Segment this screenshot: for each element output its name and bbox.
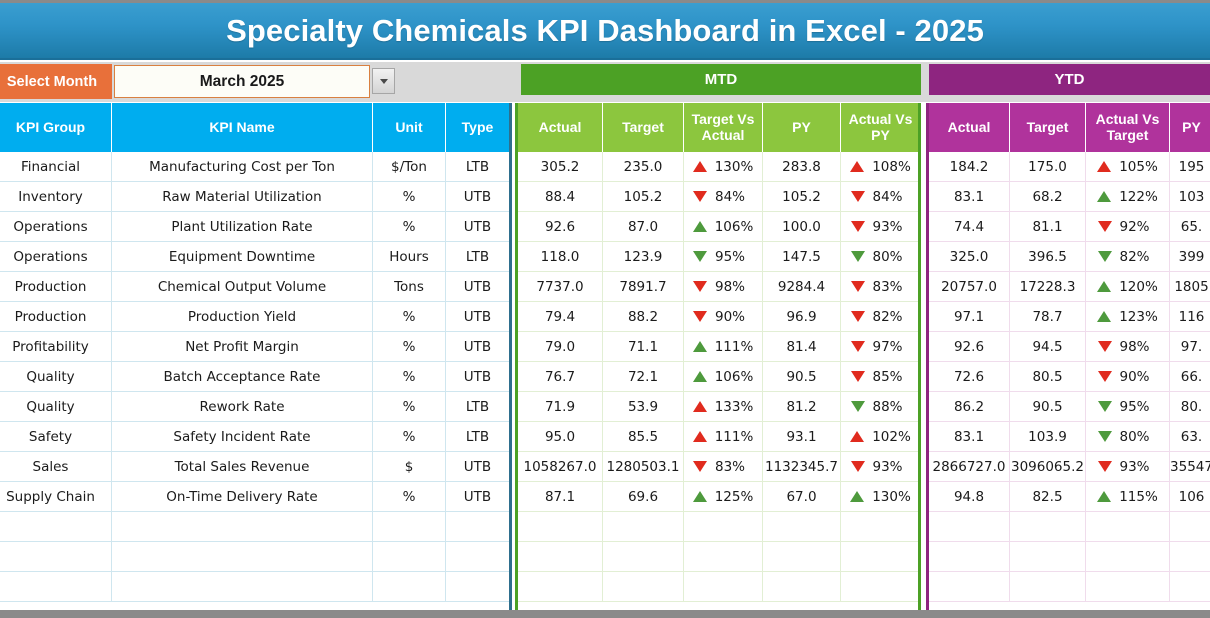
- cell-type: LTB: [446, 242, 510, 272]
- cell-mtd_py: 81.4: [763, 332, 841, 362]
- column-header-ytd-actual[interactable]: Actual: [929, 103, 1010, 152]
- cell-unit: %: [373, 212, 446, 242]
- cell-group: Quality: [0, 362, 112, 392]
- cell-mtd_tva: 111%: [684, 332, 763, 362]
- cell-name: Total Sales Revenue: [112, 452, 373, 482]
- comparison-percent: 120%: [1119, 279, 1158, 295]
- column-header-kpi-name[interactable]: KPI Name: [112, 103, 373, 152]
- column-header-mtd-target-vs-actual[interactable]: Target VsActual: [684, 103, 763, 152]
- cell-unit: Hours: [373, 242, 446, 272]
- cell-mtd_py: [763, 572, 841, 602]
- cell-mtd_tva: [684, 512, 763, 542]
- cell-type: UTB: [446, 272, 510, 302]
- cell-mtd_target: [603, 542, 684, 572]
- cell-mtd_actual: 87.1: [518, 482, 603, 512]
- cell-type: UTB: [446, 212, 510, 242]
- trend-arrow-down-icon: [1098, 221, 1112, 232]
- cell-type: UTB: [446, 452, 510, 482]
- cell-ytd_target: [1010, 542, 1086, 572]
- comparison-percent: 80%: [873, 249, 911, 265]
- cell-ytd_actual: 184.2: [929, 152, 1010, 182]
- cell-ytd_actual: [929, 572, 1010, 602]
- cell-ytd_actual: 83.1: [929, 182, 1010, 212]
- cell-ytd_py: 97.: [1170, 332, 1210, 362]
- trend-arrow-up-icon: [693, 221, 707, 232]
- cell-ytd_avt: 98%: [1086, 332, 1170, 362]
- cell-type: UTB: [446, 332, 510, 362]
- cell-unit: %: [373, 392, 446, 422]
- cell-group: Production: [0, 272, 112, 302]
- cell-mtd_py: 147.5: [763, 242, 841, 272]
- comparison-percent: 85%: [873, 369, 911, 385]
- cell-mtd_actual: 76.7: [518, 362, 603, 392]
- cell-ytd_target: 78.7: [1010, 302, 1086, 332]
- cell-mtd_py: 81.2: [763, 392, 841, 422]
- trend-arrow-up-icon: [693, 401, 707, 412]
- column-header-mtd-actual[interactable]: Actual: [518, 103, 603, 152]
- chevron-down-icon: [380, 79, 388, 84]
- group-banner-mtd: MTD: [521, 64, 921, 95]
- cell-mtd_avp: [841, 542, 921, 572]
- cell-mtd_actual: 88.4: [518, 182, 603, 212]
- trend-arrow-up-icon: [1097, 281, 1111, 292]
- cell-ytd_avt: [1086, 572, 1170, 602]
- cell-ytd_avt: [1086, 512, 1170, 542]
- cell-name: [112, 572, 373, 602]
- comparison-percent: 92%: [1120, 219, 1158, 235]
- cell-name: [112, 542, 373, 572]
- column-header-ytd-target[interactable]: Target: [1010, 103, 1086, 152]
- cell-ytd_py: 195: [1170, 152, 1210, 182]
- cell-name: Chemical Output Volume: [112, 272, 373, 302]
- comparison-percent: 83%: [873, 279, 911, 295]
- cell-ytd_py: 80.: [1170, 392, 1210, 422]
- cell-mtd_tva: 106%: [684, 212, 763, 242]
- cell-ytd_avt: 93%: [1086, 452, 1170, 482]
- cell-group: Profitability: [0, 332, 112, 362]
- cell-unit: $/Ton: [373, 152, 446, 182]
- cell-ytd_target: 3096065.2: [1010, 452, 1086, 482]
- table-row-empty[interactable]: [0, 542, 1210, 572]
- comparison-percent: 97%: [873, 339, 911, 355]
- month-dropdown-button[interactable]: [372, 68, 395, 94]
- cell-ytd_avt: 122%: [1086, 182, 1170, 212]
- trend-arrow-up-icon: [1097, 311, 1111, 322]
- cell-mtd_target: 87.0: [603, 212, 684, 242]
- trend-arrow-down-icon: [693, 281, 707, 292]
- cell-ytd_avt: 115%: [1086, 482, 1170, 512]
- comparison-percent: 106%: [715, 219, 754, 235]
- trend-arrow-up-icon: [1097, 491, 1111, 502]
- trend-arrow-down-icon: [851, 281, 865, 292]
- cell-mtd_tva: 98%: [684, 272, 763, 302]
- cell-ytd_py: 65.: [1170, 212, 1210, 242]
- cell-mtd_actual: 79.4: [518, 302, 603, 332]
- cell-mtd_actual: 1058267.0: [518, 452, 603, 482]
- column-header-kpi-group[interactable]: KPI Group: [0, 103, 112, 152]
- cell-mtd_avp: 82%: [841, 302, 921, 332]
- cell-mtd_actual: 95.0: [518, 422, 603, 452]
- cell-ytd_target: 175.0: [1010, 152, 1086, 182]
- cell-mtd_tva: 106%: [684, 362, 763, 392]
- cell-mtd_target: [603, 572, 684, 602]
- cell-type: LTB: [446, 152, 510, 182]
- table-row[interactable]: SalesTotal Sales Revenue$UTB1058267.0128…: [0, 452, 1210, 482]
- cell-mtd_avp: 130%: [841, 482, 921, 512]
- cell-group: Operations: [0, 242, 112, 272]
- cell-group: Financial: [0, 152, 112, 182]
- dashboard-banner: Specialty Chemicals KPI Dashboard in Exc…: [0, 3, 1210, 60]
- cell-ytd_avt: 80%: [1086, 422, 1170, 452]
- cell-mtd_target: 105.2: [603, 182, 684, 212]
- cell-mtd_target: [603, 512, 684, 542]
- bottom-edge-strip: [0, 610, 1210, 618]
- cell-ytd_target: 82.5: [1010, 482, 1086, 512]
- cell-mtd_avp: [841, 572, 921, 602]
- cell-name: Safety Incident Rate: [112, 422, 373, 452]
- cell-ytd_py: 63.: [1170, 422, 1210, 452]
- cell-type: LTB: [446, 422, 510, 452]
- group-banner-ytd: YTD: [929, 64, 1210, 95]
- cell-mtd_tva: [684, 542, 763, 572]
- cell-ytd_py: 103: [1170, 182, 1210, 212]
- cell-ytd_actual: 74.4: [929, 212, 1010, 242]
- column-header-ytd-py[interactable]: PY: [1170, 103, 1210, 152]
- table-row[interactable]: QualityRework Rate%LTB71.953.9133%81.288…: [0, 392, 1210, 422]
- comparison-percent: 123%: [1119, 309, 1158, 325]
- cell-mtd_tva: 130%: [684, 152, 763, 182]
- cell-mtd_target: 53.9: [603, 392, 684, 422]
- cell-ytd_target: 81.1: [1010, 212, 1086, 242]
- cell-type: [446, 512, 510, 542]
- cell-ytd_actual: 83.1: [929, 422, 1010, 452]
- trend-arrow-down-icon: [693, 461, 707, 472]
- cell-unit: %: [373, 332, 446, 362]
- comparison-percent: 133%: [715, 399, 754, 415]
- cell-ytd_py: 66.: [1170, 362, 1210, 392]
- cell-mtd_actual: 71.9: [518, 392, 603, 422]
- cell-unit: [373, 512, 446, 542]
- cell-name: Raw Material Utilization: [112, 182, 373, 212]
- cell-mtd_target: 235.0: [603, 152, 684, 182]
- cell-ytd_target: 90.5: [1010, 392, 1086, 422]
- cell-ytd_target: 94.5: [1010, 332, 1086, 362]
- trend-arrow-up-icon: [850, 491, 864, 502]
- cell-mtd_avp: 102%: [841, 422, 921, 452]
- cell-mtd_avp: 80%: [841, 242, 921, 272]
- cell-mtd_tva: 90%: [684, 302, 763, 332]
- cell-name: Plant Utilization Rate: [112, 212, 373, 242]
- cell-name: Rework Rate: [112, 392, 373, 422]
- comparison-percent: 130%: [872, 489, 911, 505]
- cell-group: [0, 512, 112, 542]
- cell-name: Net Profit Margin: [112, 332, 373, 362]
- cell-mtd_avp: 85%: [841, 362, 921, 392]
- comparison-percent: 82%: [1120, 249, 1158, 265]
- cell-type: LTB: [446, 392, 510, 422]
- comparison-percent: 122%: [1119, 189, 1158, 205]
- select-month-label: Select Month: [0, 64, 112, 99]
- trend-arrow-down-icon: [851, 221, 865, 232]
- cell-mtd_avp: [841, 512, 921, 542]
- comparison-percent: 102%: [872, 429, 911, 445]
- cell-ytd_avt: 82%: [1086, 242, 1170, 272]
- cell-ytd_actual: [929, 512, 1010, 542]
- cell-ytd_actual: 94.8: [929, 482, 1010, 512]
- cell-mtd_py: 93.1: [763, 422, 841, 452]
- trend-arrow-down-icon: [1098, 371, 1112, 382]
- trend-arrow-down-icon: [851, 461, 865, 472]
- cell-ytd_actual: 97.1: [929, 302, 1010, 332]
- cell-mtd_tva: 133%: [684, 392, 763, 422]
- trend-arrow-down-icon: [1098, 341, 1112, 352]
- cell-unit: %: [373, 182, 446, 212]
- comparison-percent: 108%: [872, 159, 911, 175]
- cell-ytd_py: 1805: [1170, 272, 1210, 302]
- trend-arrow-up-icon: [693, 491, 707, 502]
- cell-mtd_actual: 79.0: [518, 332, 603, 362]
- comparison-percent: 115%: [1119, 489, 1158, 505]
- table-row-empty[interactable]: [0, 572, 1210, 602]
- cell-mtd_tva: 95%: [684, 242, 763, 272]
- cell-mtd_tva: 111%: [684, 422, 763, 452]
- trend-arrow-down-icon: [1098, 461, 1112, 472]
- cell-mtd_py: 105.2: [763, 182, 841, 212]
- table-body: FinancialManufacturing Cost per Ton$/Ton…: [0, 152, 1210, 610]
- cell-type: UTB: [446, 482, 510, 512]
- trend-arrow-up-icon: [693, 161, 707, 172]
- comparison-percent: 125%: [715, 489, 754, 505]
- cell-group: Operations: [0, 212, 112, 242]
- cell-group: Sales: [0, 452, 112, 482]
- cell-mtd_actual: 118.0: [518, 242, 603, 272]
- trend-arrow-up-icon: [850, 431, 864, 442]
- trend-arrow-up-icon: [693, 431, 707, 442]
- cell-unit: [373, 572, 446, 602]
- comparison-percent: 105%: [1119, 159, 1158, 175]
- cell-ytd_py: [1170, 572, 1210, 602]
- trend-arrow-down-icon: [1098, 401, 1112, 412]
- trend-arrow-up-icon: [850, 161, 864, 172]
- comparison-percent: 83%: [715, 459, 753, 475]
- comparison-percent: 111%: [715, 429, 754, 445]
- table-row[interactable]: ProfitabilityNet Profit Margin%UTB79.071…: [0, 332, 1210, 362]
- cell-mtd_py: 67.0: [763, 482, 841, 512]
- cell-type: UTB: [446, 182, 510, 212]
- cell-ytd_py: 35547: [1170, 452, 1210, 482]
- column-header-unit[interactable]: Unit: [373, 103, 446, 152]
- cell-ytd_py: 116: [1170, 302, 1210, 332]
- month-select-input[interactable]: March 2025: [114, 65, 370, 98]
- comparison-percent: 130%: [715, 159, 754, 175]
- comparison-percent: 80%: [1120, 429, 1158, 445]
- comparison-percent: 93%: [1120, 459, 1158, 475]
- table-row-empty[interactable]: [0, 512, 1210, 542]
- cell-ytd_actual: [929, 542, 1010, 572]
- column-header-mtd-target[interactable]: Target: [603, 103, 684, 152]
- cell-ytd_avt: 120%: [1086, 272, 1170, 302]
- column-header-ytd-actual-vs-target[interactable]: Actual VsTarget: [1086, 103, 1170, 152]
- cell-ytd_target: 103.9: [1010, 422, 1086, 452]
- cell-ytd_py: 106: [1170, 482, 1210, 512]
- cell-mtd_avp: 83%: [841, 272, 921, 302]
- cell-ytd_py: [1170, 512, 1210, 542]
- cell-ytd_target: 17228.3: [1010, 272, 1086, 302]
- table-row[interactable]: ProductionChemical Output VolumeTonsUTB7…: [0, 272, 1210, 302]
- cell-ytd_actual: 72.6: [929, 362, 1010, 392]
- cell-mtd_target: 1280503.1: [603, 452, 684, 482]
- trend-arrow-down-icon: [851, 371, 865, 382]
- cell-mtd_tva: 83%: [684, 452, 763, 482]
- cell-type: UTB: [446, 362, 510, 392]
- trend-arrow-down-icon: [1098, 431, 1112, 442]
- cell-mtd_actual: [518, 512, 603, 542]
- cell-mtd_target: 72.1: [603, 362, 684, 392]
- cell-mtd_actual: 92.6: [518, 212, 603, 242]
- cell-mtd_actual: [518, 572, 603, 602]
- cell-ytd_py: 399: [1170, 242, 1210, 272]
- cell-ytd_avt: 92%: [1086, 212, 1170, 242]
- cell-type: [446, 572, 510, 602]
- cell-name: Equipment Downtime: [112, 242, 373, 272]
- column-header-mtd-actual-vs-py[interactable]: Actual VsPY: [841, 103, 921, 152]
- cell-mtd_target: 7891.7: [603, 272, 684, 302]
- trend-arrow-up-icon: [693, 341, 707, 352]
- cell-type: [446, 542, 510, 572]
- cell-ytd_target: [1010, 512, 1086, 542]
- cell-ytd_actual: 2866727.0: [929, 452, 1010, 482]
- cell-ytd_py: [1170, 542, 1210, 572]
- comparison-percent: 93%: [873, 219, 911, 235]
- cell-mtd_target: 85.5: [603, 422, 684, 452]
- cell-ytd_actual: 86.2: [929, 392, 1010, 422]
- comparison-percent: 84%: [873, 189, 911, 205]
- trend-arrow-up-icon: [1097, 161, 1111, 172]
- trend-arrow-up-icon: [693, 371, 707, 382]
- column-header-type[interactable]: Type: [446, 103, 510, 152]
- cell-mtd_avp: 88%: [841, 392, 921, 422]
- cell-mtd_actual: 7737.0: [518, 272, 603, 302]
- cell-mtd_py: 90.5: [763, 362, 841, 392]
- cell-mtd_avp: 93%: [841, 452, 921, 482]
- trend-arrow-down-icon: [693, 191, 707, 202]
- comparison-percent: 98%: [1120, 339, 1158, 355]
- cell-mtd_avp: 97%: [841, 332, 921, 362]
- cell-mtd_py: 100.0: [763, 212, 841, 242]
- comparison-percent: 98%: [715, 279, 753, 295]
- cell-mtd_py: 1132345.7: [763, 452, 841, 482]
- cell-ytd_avt: 123%: [1086, 302, 1170, 332]
- comparison-percent: 93%: [873, 459, 911, 475]
- cell-mtd_py: 283.8: [763, 152, 841, 182]
- trend-arrow-down-icon: [693, 311, 707, 322]
- cell-name: Manufacturing Cost per Ton: [112, 152, 373, 182]
- cell-ytd_avt: [1086, 542, 1170, 572]
- cell-mtd_py: 9284.4: [763, 272, 841, 302]
- trend-arrow-down-icon: [851, 401, 865, 412]
- trend-arrow-down-icon: [851, 311, 865, 322]
- cell-group: Quality: [0, 392, 112, 422]
- table-header-row: KPI GroupKPI NameUnitTypeActualTargetTar…: [0, 103, 1210, 152]
- cell-mtd_py: 96.9: [763, 302, 841, 332]
- column-header-mtd-py[interactable]: PY: [763, 103, 841, 152]
- trend-arrow-up-icon: [1097, 191, 1111, 202]
- cell-ytd_actual: 325.0: [929, 242, 1010, 272]
- selected-month-value: March 2025: [200, 73, 284, 91]
- cell-mtd_actual: 305.2: [518, 152, 603, 182]
- page-title: Specialty Chemicals KPI Dashboard in Exc…: [226, 13, 984, 49]
- cell-ytd_target: 80.5: [1010, 362, 1086, 392]
- comparison-percent: 106%: [715, 369, 754, 385]
- cell-unit: %: [373, 482, 446, 512]
- cell-ytd_actual: 92.6: [929, 332, 1010, 362]
- cell-mtd_tva: 125%: [684, 482, 763, 512]
- trend-arrow-down-icon: [1098, 251, 1112, 262]
- cell-group: Supply Chain: [0, 482, 112, 512]
- cell-unit: %: [373, 362, 446, 392]
- table-row[interactable]: QualityBatch Acceptance Rate%UTB76.772.1…: [0, 362, 1210, 392]
- cell-group: Production: [0, 302, 112, 332]
- trend-arrow-down-icon: [851, 251, 865, 262]
- cell-unit: %: [373, 422, 446, 452]
- cell-mtd_py: [763, 542, 841, 572]
- table-row[interactable]: OperationsPlant Utilization Rate%UTB92.6…: [0, 212, 1210, 242]
- cell-mtd_avp: 84%: [841, 182, 921, 212]
- cell-group: Inventory: [0, 182, 112, 212]
- cell-name: On-Time Delivery Rate: [112, 482, 373, 512]
- cell-mtd_target: 69.6: [603, 482, 684, 512]
- cell-mtd_avp: 108%: [841, 152, 921, 182]
- cell-group: Safety: [0, 422, 112, 452]
- cell-ytd_avt: 90%: [1086, 362, 1170, 392]
- comparison-percent: 95%: [715, 249, 753, 265]
- cell-name: Batch Acceptance Rate: [112, 362, 373, 392]
- cell-ytd_actual: 20757.0: [929, 272, 1010, 302]
- cell-group: [0, 572, 112, 602]
- cell-name: [112, 512, 373, 542]
- table-row[interactable]: Supply ChainOn-Time Delivery Rate%UTB87.…: [0, 482, 1210, 512]
- cell-mtd_target: 88.2: [603, 302, 684, 332]
- kpi-table: KPI GroupKPI NameUnitTypeActualTargetTar…: [0, 103, 1210, 610]
- trend-arrow-down-icon: [851, 191, 865, 202]
- cell-mtd_tva: 84%: [684, 182, 763, 212]
- comparison-percent: 90%: [715, 309, 753, 325]
- table-row[interactable]: FinancialManufacturing Cost per Ton$/Ton…: [0, 152, 1210, 182]
- cell-unit: [373, 542, 446, 572]
- trend-arrow-down-icon: [851, 341, 865, 352]
- comparison-percent: 111%: [715, 339, 754, 355]
- table-row[interactable]: ProductionProduction Yield%UTB79.488.290…: [0, 302, 1210, 332]
- cell-ytd_avt: 95%: [1086, 392, 1170, 422]
- cell-unit: Tons: [373, 272, 446, 302]
- comparison-percent: 82%: [873, 309, 911, 325]
- trend-arrow-down-icon: [693, 251, 707, 262]
- comparison-percent: 95%: [1120, 399, 1158, 415]
- table-row[interactable]: SafetySafety Incident Rate%LTB95.085.511…: [0, 422, 1210, 452]
- cell-ytd_avt: 105%: [1086, 152, 1170, 182]
- comparison-percent: 88%: [873, 399, 911, 415]
- cell-mtd_py: [763, 512, 841, 542]
- comparison-percent: 90%: [1120, 369, 1158, 385]
- cell-mtd_target: 71.1: [603, 332, 684, 362]
- cell-mtd_avp: 93%: [841, 212, 921, 242]
- table-row[interactable]: InventoryRaw Material Utilization%UTB88.…: [0, 182, 1210, 212]
- cell-unit: $: [373, 452, 446, 482]
- cell-type: UTB: [446, 302, 510, 332]
- table-row[interactable]: OperationsEquipment DowntimeHoursLTB118.…: [0, 242, 1210, 272]
- cell-mtd_tva: [684, 572, 763, 602]
- cell-ytd_target: 396.5: [1010, 242, 1086, 272]
